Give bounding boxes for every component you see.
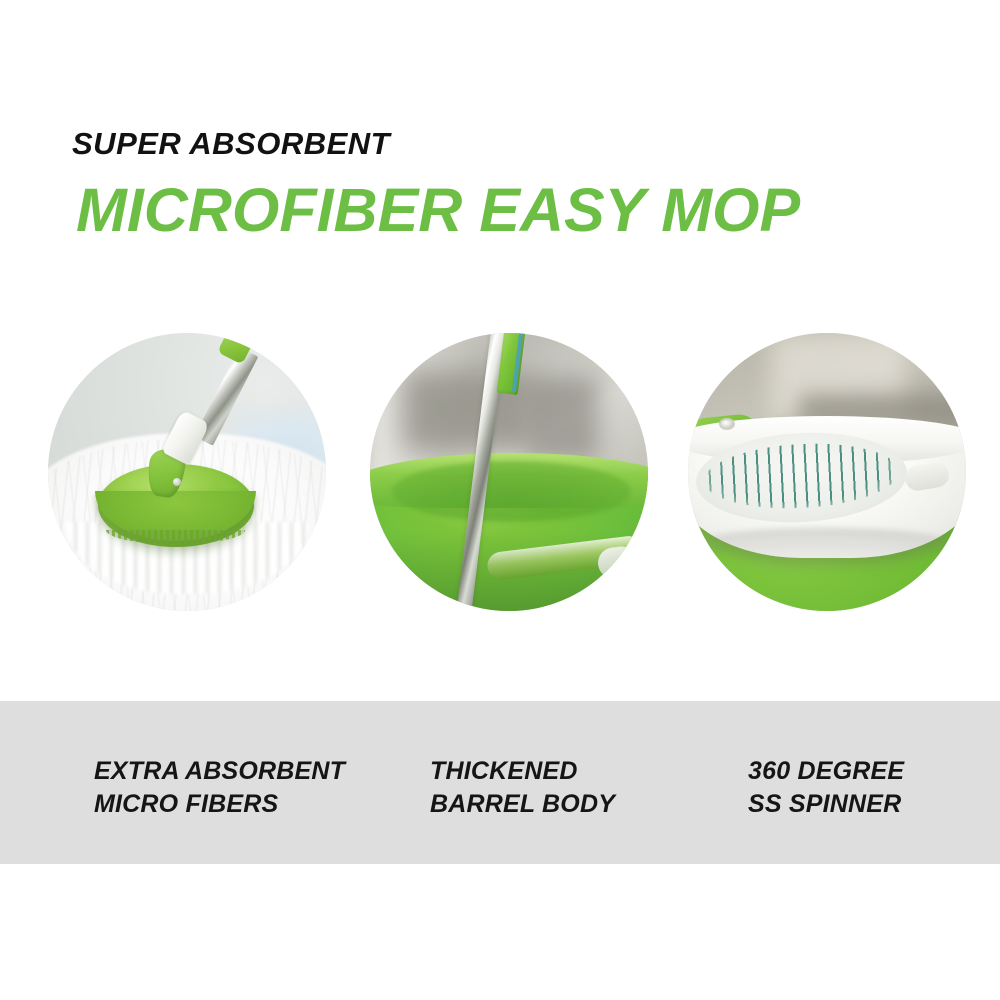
caption-line-1: THICKENED bbox=[430, 755, 615, 788]
feature-image-spinner bbox=[688, 333, 966, 611]
bucket-bottom-shadow bbox=[370, 533, 648, 611]
eyebrow-text: SUPER ABSORBENT bbox=[72, 128, 932, 159]
feature-image-barrel bbox=[370, 333, 648, 611]
spinner-basket-shadow bbox=[694, 528, 955, 561]
hub-screw bbox=[173, 478, 181, 486]
feature-caption-band: EXTRA ABSORBENT MICRO FIBERS THICKENED B… bbox=[0, 701, 1000, 864]
bucket-interior-shadow bbox=[392, 461, 631, 522]
caption-line-2: BARREL BODY bbox=[430, 788, 615, 821]
feature-image-microfibers bbox=[48, 333, 326, 611]
spinner-drain-slots bbox=[703, 439, 900, 513]
caption-spinner: 360 DEGREE SS SPINNER bbox=[748, 755, 904, 822]
bucket-barrel-scene bbox=[370, 333, 648, 611]
caption-line-1: 360 DEGREE bbox=[748, 755, 904, 788]
caption-line-2: MICRO FIBERS bbox=[94, 788, 345, 821]
feature-image-row bbox=[0, 333, 1000, 615]
headline-block: SUPER ABSORBENT MICROFIBER EASY MOP bbox=[72, 128, 932, 241]
mop-head-scene bbox=[48, 333, 326, 611]
caption-microfibers: EXTRA ABSORBENT MICRO FIBERS bbox=[94, 755, 345, 822]
product-infographic-page: SUPER ABSORBENT MICROFIBER EASY MOP bbox=[0, 0, 1000, 1000]
page-title: MICROFIBER EASY MOP bbox=[76, 179, 932, 241]
spinner-basket-scene bbox=[688, 333, 966, 611]
spinner-pivot-screw bbox=[719, 418, 735, 430]
background-blur-b bbox=[526, 377, 598, 460]
caption-barrel: THICKENED BARREL BODY bbox=[430, 755, 615, 822]
caption-line-2: SS SPINNER bbox=[748, 788, 904, 821]
caption-line-1: EXTRA ABSORBENT bbox=[94, 755, 345, 788]
